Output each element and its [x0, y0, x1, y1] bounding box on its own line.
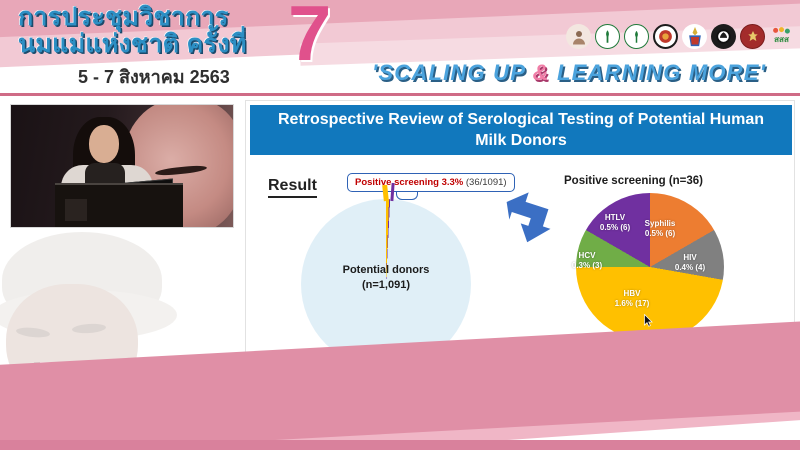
tagline-ampersand: & — [533, 60, 550, 85]
pie-slice-htlv-spike — [390, 183, 394, 201]
banner-bottom-rule — [0, 93, 800, 96]
podium-plate — [65, 199, 87, 221]
potential-donors-label-line2: (n=1,091) — [301, 278, 471, 293]
thai-red-cross-logo — [711, 24, 736, 49]
thai-breastfeeding-foundation-logo — [566, 24, 591, 49]
callout-fraction: (36/1091) — [466, 177, 507, 188]
department-of-health-logo — [624, 24, 649, 49]
event-tagline: 'SCALING UP & LEARNING MORE' — [372, 60, 766, 86]
event-banner: การประชุมวิชาการ นมแม่แห่งชาติ ครั้งที่ … — [0, 0, 800, 96]
blue-arrow-icon — [499, 191, 555, 243]
sponsor-logo-row: สสส — [566, 24, 794, 49]
positive-screening-callout: Positive screening 3.3% (36/1091) — [347, 173, 515, 192]
tagline-part2: LEARNING MORE' — [550, 60, 766, 85]
speaker-video-thumbnail[interactable] — [10, 104, 234, 228]
event-date: 5 - 7 สิงหาคม 2563 — [78, 62, 230, 91]
result-heading: Result — [268, 177, 317, 198]
event-edition-number: 7 — [288, 0, 331, 72]
tagline-part1: 'SCALING UP — [372, 60, 533, 85]
svg-text:สสส: สสส — [774, 34, 789, 44]
event-title-thai-line2: นมแม่แห่งชาติ ครั้งที่ — [18, 31, 247, 58]
footer-base-bar — [0, 440, 800, 450]
thaihealth-sss-logo: สสส — [769, 24, 794, 49]
positive-screening-pie-title: Positive screening (n=36) — [564, 175, 703, 187]
callout-strong-text: Positive screening 3.3% — [355, 177, 463, 188]
national-institute-logo — [740, 24, 765, 49]
royal-emblem-logo — [682, 24, 707, 49]
event-title-thai: การประชุมวิชาการ นมแม่แห่งชาติ ครั้งที่ — [18, 4, 247, 58]
speaker-face — [89, 125, 119, 163]
slide-title: Retrospective Review of Serological Test… — [250, 105, 792, 155]
event-title-thai-line1: การประชุมวิชาการ — [18, 3, 229, 31]
potential-donors-center-label: Potential donors (n=1,091) — [301, 263, 471, 293]
positive-screening-pie[interactable] — [576, 193, 724, 341]
podium — [55, 183, 183, 227]
royal-college-logo — [653, 24, 678, 49]
potential-donors-label-line1: Potential donors — [301, 263, 471, 278]
presentation-screen: การประชุมวิชาการ นมแม่แห่งชาติ ครั้งที่ … — [0, 0, 800, 450]
callout-tail — [396, 192, 418, 200]
ministry-of-public-health-logo — [595, 24, 620, 49]
